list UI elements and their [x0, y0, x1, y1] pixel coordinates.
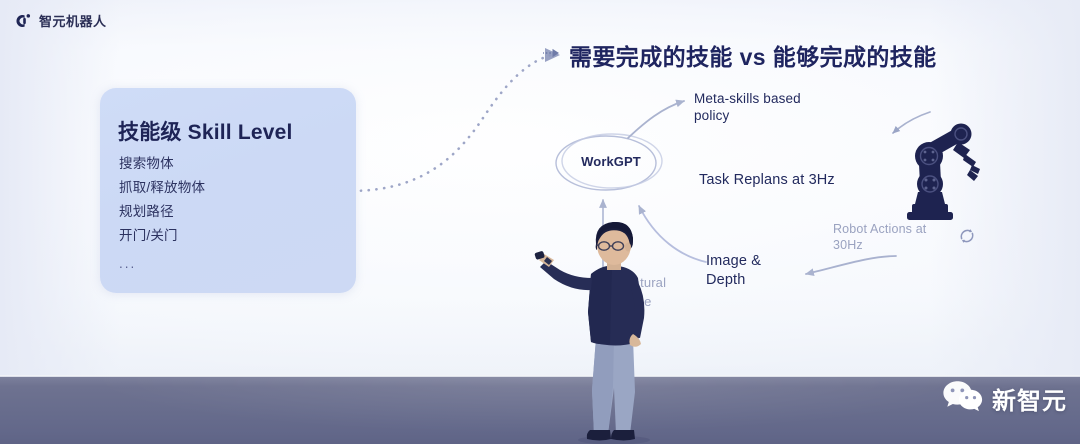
list-item: 抓取/释放物体 [119, 176, 205, 200]
meta-skills-label: Meta-skills based policy [694, 90, 819, 124]
slide-headline-row: 需要完成的技能 vs 能够完成的技能 [543, 38, 937, 72]
robot-arm-icon [886, 106, 982, 229]
presenter-person-icon [534, 216, 674, 444]
image-depth-label: Image & Depth [706, 252, 796, 290]
arrow-right-icon [543, 46, 560, 64]
stage-scene: 智元机器人 技能级 Skill Level 搜索物体 抓取/释放物体 规划路径 … [0, 0, 1080, 444]
skill-panel-title: 技能级 Skill Level [118, 116, 293, 146]
workgpt-node-label: WorkGPT [575, 153, 647, 170]
list-item: 搜索物体 [119, 152, 205, 176]
wechat-watermark-text: 新智元 [992, 381, 1067, 416]
aimoga-logo-icon [14, 12, 32, 30]
brand-logo: 智元机器人 [14, 11, 107, 30]
wechat-watermark: 新智元 [942, 379, 1067, 418]
list-item-ellipsis: ... [119, 248, 205, 276]
skill-list: 搜索物体 抓取/释放物体 规划路径 开门/关门 ... [119, 152, 205, 276]
refresh-loop-icon [957, 226, 977, 251]
wechat-icon [942, 379, 984, 418]
page-title: 需要完成的技能 vs 能够完成的技能 [569, 38, 937, 72]
list-item: 开门/关门 [119, 224, 205, 248]
task-replans-label: Task Replans at 3Hz [699, 172, 835, 189]
skill-level-panel: 技能级 Skill Level 搜索物体 抓取/释放物体 规划路径 开门/关门 … [100, 88, 356, 293]
brand-name: 智元机器人 [39, 11, 107, 30]
list-item: 规划路径 [119, 200, 205, 224]
